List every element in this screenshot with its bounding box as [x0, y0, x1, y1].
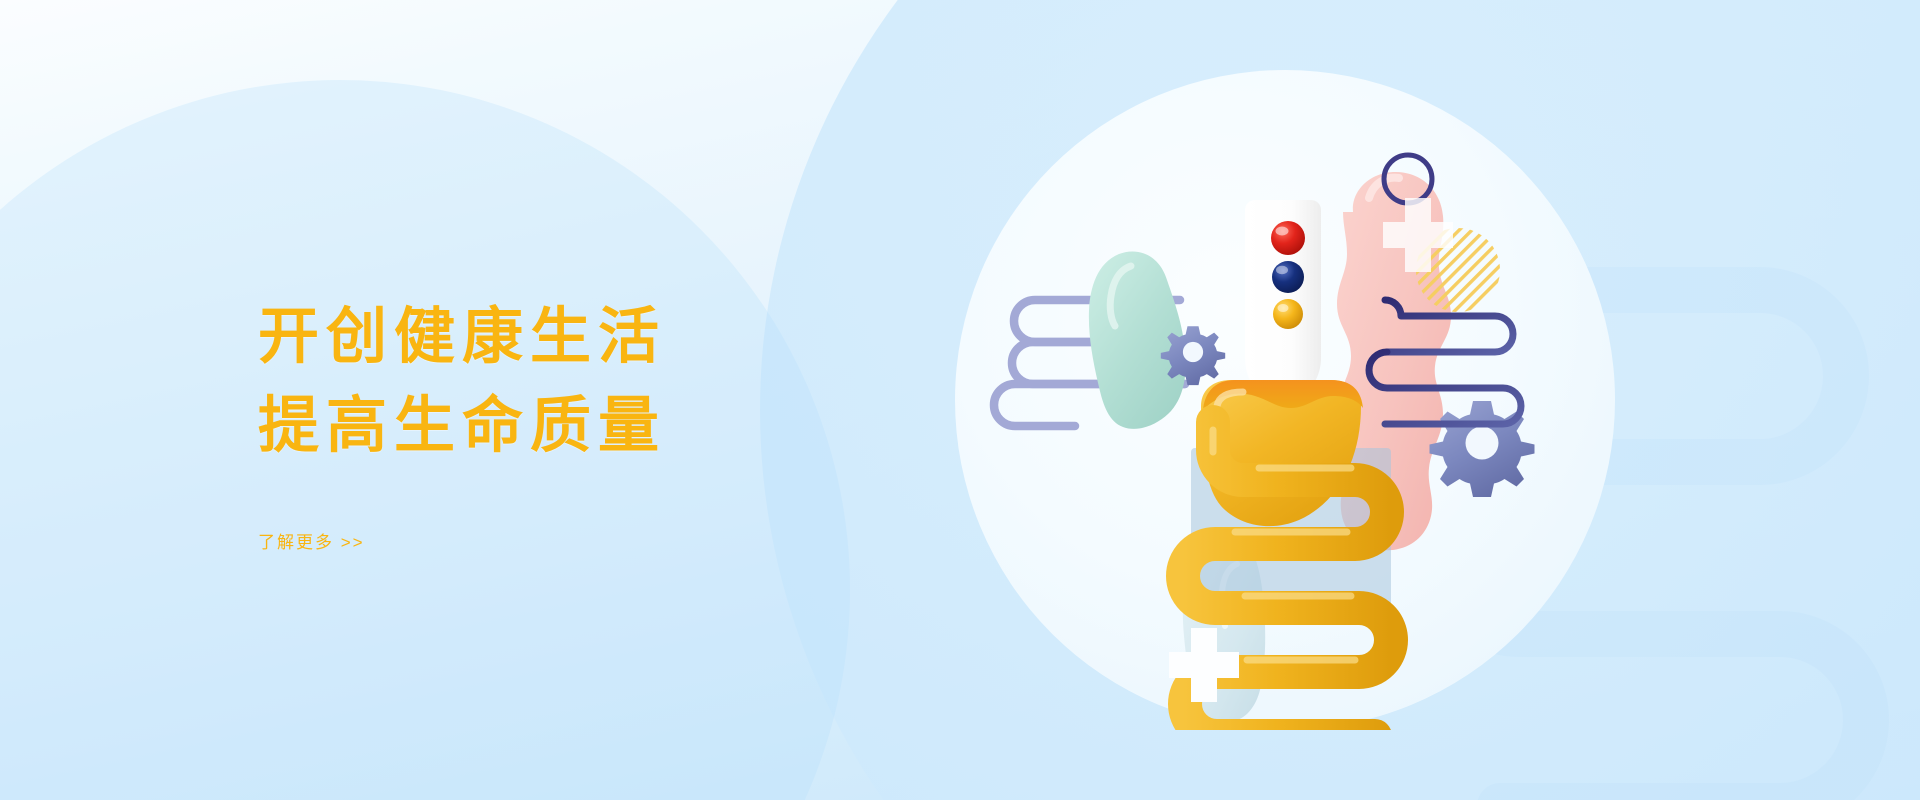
learn-more-link[interactable]: 了解更多 >> [258, 528, 365, 553]
headline-line-2: 提高生命质量 [258, 381, 878, 470]
pill-red-icon [1271, 221, 1305, 255]
hero-banner: 开创健康生活 提高生命质量 了解更多 >> [0, 0, 1920, 800]
banner-copy: 开创健康生活 提高生命质量 了解更多 >> [258, 292, 878, 553]
digestive-system-illustration [955, 70, 1615, 730]
illustration-svg [955, 70, 1615, 730]
gear-small-icon [1161, 326, 1225, 385]
pill-yellow-icon [1273, 299, 1303, 329]
pill-navy-icon [1272, 261, 1304, 293]
headline-line-1: 开创健康生活 [258, 292, 878, 381]
